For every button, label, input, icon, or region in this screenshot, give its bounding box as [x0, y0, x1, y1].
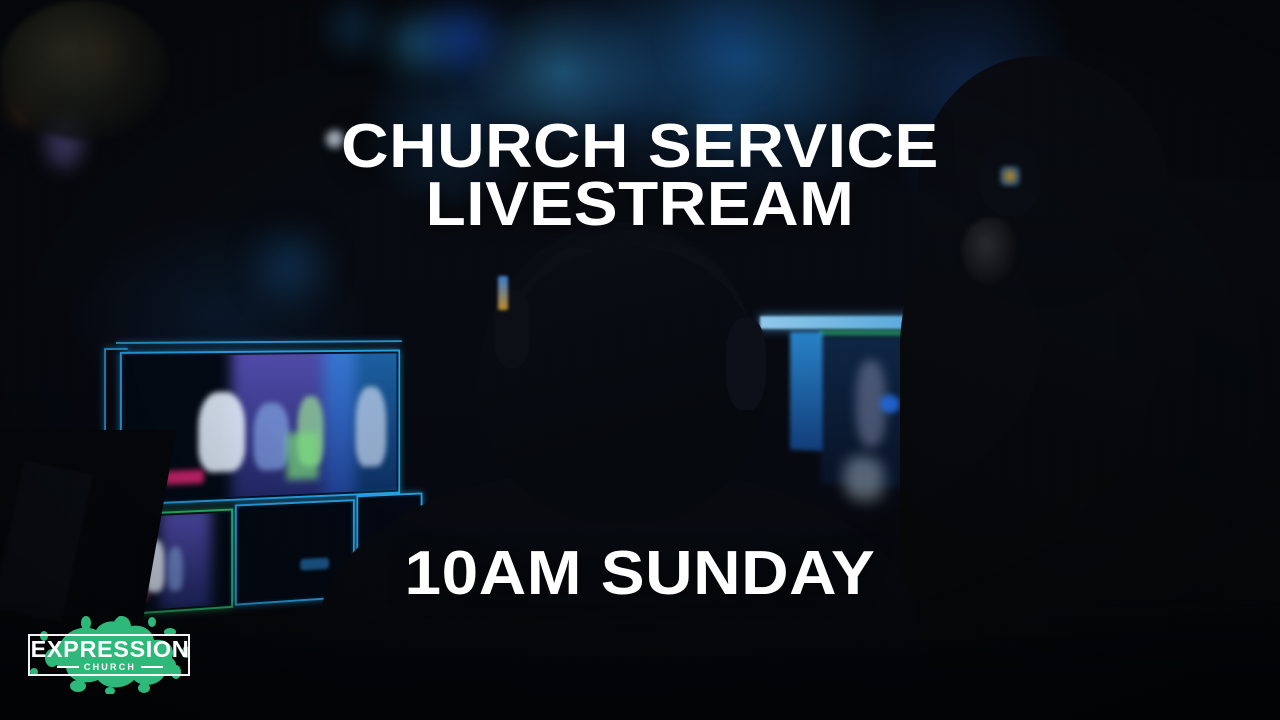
logo-rule-right — [141, 666, 163, 668]
stage-light-pink — [164, 470, 204, 486]
logo-rule-left — [57, 666, 79, 668]
stage-performer — [198, 392, 245, 473]
monitor-glow — [844, 456, 884, 502]
headphone-earcup-right — [726, 318, 766, 410]
livestream-promo-graphic: CHURCH SERVICE LIVESTREAM 10AM SUNDAY — [0, 0, 1280, 720]
bokeh-light-blue — [330, 6, 374, 48]
headline-line-1: CHURCH SERVICE — [0, 118, 1280, 176]
headline-block: CHURCH SERVICE LIVESTREAM — [0, 118, 1280, 233]
logo-subtitle: CHURCH — [84, 662, 136, 672]
expression-church-logo: EXPRESSION CHURCH — [22, 612, 198, 698]
monitor-blue-highlight — [880, 395, 900, 414]
stage-performer — [254, 402, 289, 471]
bokeh-light-blue — [690, 4, 760, 74]
logo-subtitle-row: CHURCH — [22, 662, 198, 672]
logo-wordmark: EXPRESSION — [20, 636, 200, 663]
headphone-indicator-led — [498, 276, 508, 310]
bokeh-light-blue — [260, 236, 320, 296]
stage-light-green — [286, 432, 318, 481]
service-time-text: 10AM SUNDAY — [0, 538, 1280, 609]
bokeh-light-blue — [430, 8, 492, 66]
multiview-top-rail — [116, 340, 402, 344]
monitor-side-panel — [790, 332, 823, 451]
stage-performer — [355, 386, 386, 467]
headline-line-2: LIVESTREAM — [0, 176, 1280, 234]
